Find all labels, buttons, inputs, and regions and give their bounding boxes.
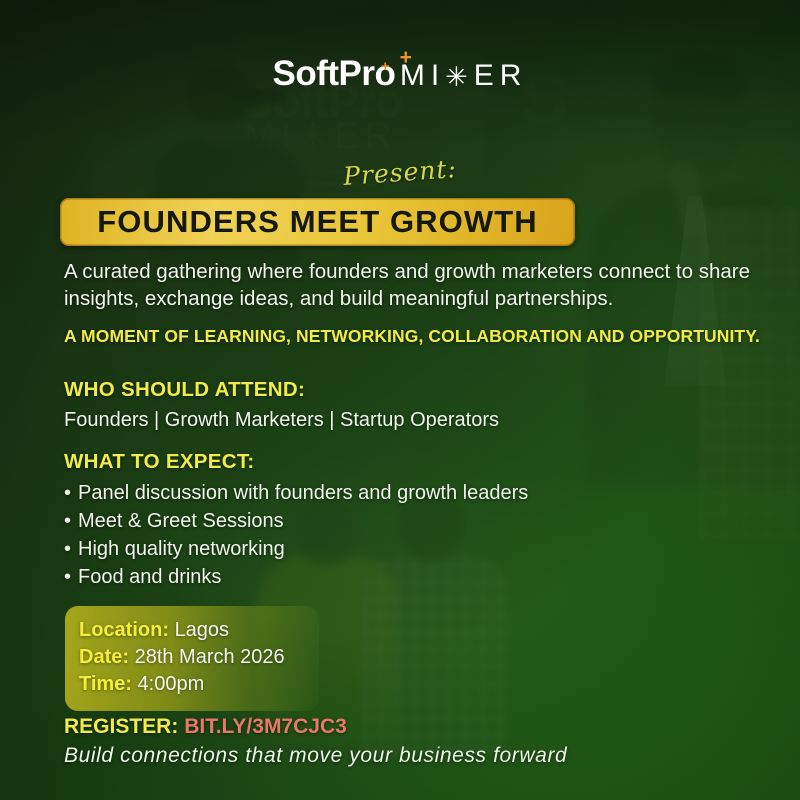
list-item-label: Meet & Greet Sessions bbox=[78, 510, 284, 532]
tagline: Build connections that move your busines… bbox=[64, 744, 567, 768]
bullet-dot-icon: • bbox=[64, 479, 78, 507]
what-to-expect-section: WHAT TO EXPECT: •Panel discussion with f… bbox=[64, 450, 764, 591]
date-label: Date: bbox=[79, 646, 129, 668]
list-item-label: Food and drinks bbox=[78, 566, 221, 588]
list-item-label: Panel discussion with founders and growt… bbox=[78, 482, 528, 504]
brand-logo-sub-after: ER bbox=[474, 59, 528, 92]
brand-logo-sub-wrap: + MI✳ER bbox=[400, 61, 528, 91]
time-value: 4:00pm bbox=[138, 673, 205, 695]
time-label: Time: bbox=[79, 673, 132, 695]
bullet-dot-icon: • bbox=[64, 535, 78, 563]
brand-logo-wordmark: SoftPro + bbox=[273, 56, 396, 91]
date-value: 28th March 2026 bbox=[135, 646, 285, 668]
register-url-link[interactable]: BIT.LY/3M7CJC3 bbox=[184, 715, 347, 738]
what-to-expect-list: •Panel discussion with founders and grow… bbox=[64, 479, 764, 591]
flyer-content: SoftPro + + MI✳ER Present: FOUNDERS MEET… bbox=[0, 0, 800, 800]
title-banner: FOUNDERS MEET GROWTH bbox=[60, 198, 575, 246]
who-should-attend-audience: Founders | Growth Marketers | Startup Op… bbox=[64, 407, 764, 434]
who-should-attend-section: WHO SHOULD ATTEND: Founders | Growth Mar… bbox=[64, 378, 764, 434]
brand-logo-sub-before: MI bbox=[400, 59, 445, 92]
what-to-expect-heading: WHAT TO EXPECT: bbox=[64, 450, 764, 474]
list-item: •Meet & Greet Sessions bbox=[64, 507, 764, 535]
register-label: REGISTER: bbox=[64, 715, 178, 738]
lead-paragraph: A curated gathering where founders and g… bbox=[64, 258, 764, 312]
event-details-box: Location: Lagos Date: 28th March 2026 Ti… bbox=[65, 606, 319, 711]
bullet-dot-icon: • bbox=[64, 507, 78, 535]
event-flyer: SoftPro MI✳ER S SoftPro + + bbox=[0, 0, 800, 800]
page-title: FOUNDERS MEET GROWTH bbox=[97, 204, 538, 240]
list-item: •Food and drinks bbox=[64, 563, 764, 591]
who-should-attend-heading: WHO SHOULD ATTEND: bbox=[64, 378, 764, 402]
event-date-row: Date: 28th March 2026 bbox=[79, 644, 319, 671]
brand-logo-sub: MI✳ER bbox=[400, 59, 528, 92]
list-item-label: High quality networking bbox=[78, 538, 285, 560]
event-location-row: Location: Lagos bbox=[79, 617, 319, 644]
asterisk-star-icon: ✳ bbox=[445, 64, 474, 91]
location-value: Lagos bbox=[175, 619, 230, 641]
brand-logo-name: SoftPro bbox=[273, 54, 396, 93]
list-item: •Panel discussion with founders and grow… bbox=[64, 479, 764, 507]
bullet-dot-icon: • bbox=[64, 563, 78, 591]
brand-logo: SoftPro + + MI✳ER bbox=[0, 54, 800, 91]
event-time-row: Time: 4:00pm bbox=[79, 671, 319, 698]
plus-small-icon: + bbox=[381, 58, 390, 75]
register-line: REGISTER: BIT.LY/3M7CJC3 bbox=[64, 715, 347, 739]
location-label: Location: bbox=[79, 619, 169, 641]
moment-statement: A MOMENT OF LEARNING, NETWORKING, COLLAB… bbox=[64, 326, 784, 347]
list-item: •High quality networking bbox=[64, 535, 764, 563]
